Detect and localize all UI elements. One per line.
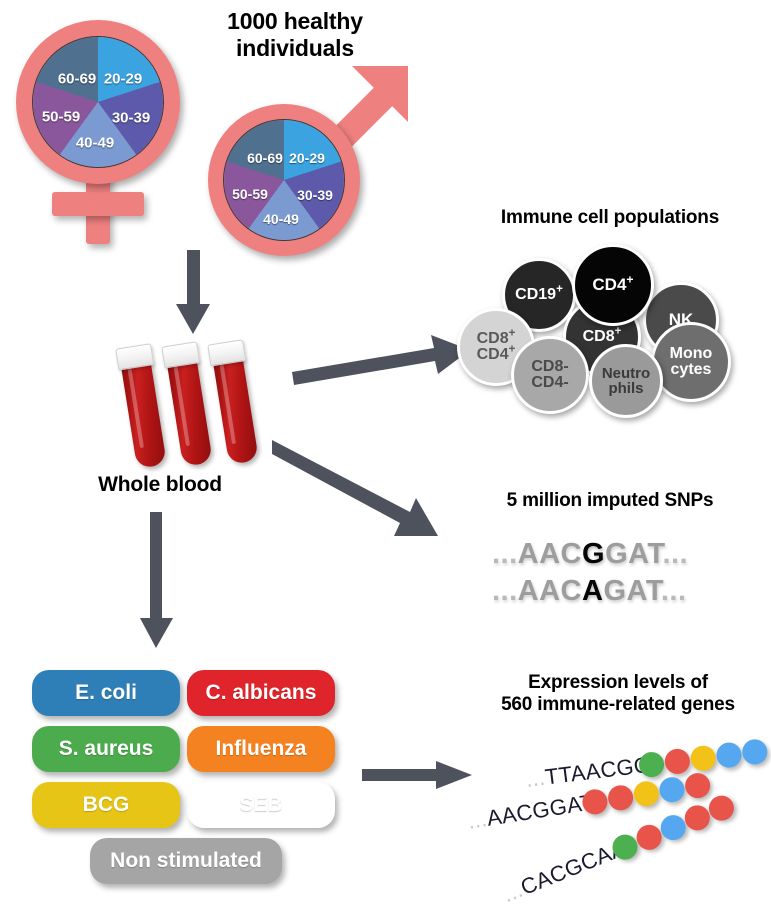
immune-cell-cd4-label: CD4+ — [592, 276, 633, 293]
arrow-stimuli-to-expression — [362, 760, 482, 800]
immune-cell-monocytes: Monocytes — [651, 322, 731, 402]
blood-tube-body — [121, 359, 167, 468]
stimulus-e-coli[interactable]: E. coli — [32, 670, 180, 716]
blood-tube-body — [213, 355, 259, 464]
blood-tube — [208, 339, 261, 467]
snp-suffix: ... — [661, 575, 687, 607]
female-symbol-crossbar — [52, 192, 144, 216]
snp-pre: AAC — [518, 538, 582, 570]
immune-cell-cluster: CD19+ CD4+ NK CD8+CD4+ CD8+ Monocytes CD… — [455, 240, 755, 410]
cohort-title: 1000 healthy individuals — [185, 8, 405, 62]
stimuli-panel: E. coli C. albicans S. aureus Influenza … — [32, 670, 342, 900]
stimulus-influenza[interactable]: Influenza — [187, 726, 335, 772]
expression-title-line1: Expression levels of — [468, 672, 768, 694]
snp-variant-g: G — [582, 538, 605, 570]
female-pie-segments — [33, 37, 163, 167]
stimulus-s-aureus[interactable]: S. aureus — [32, 726, 180, 772]
snp-post: GAT — [603, 575, 660, 607]
whole-blood-tubes — [110, 340, 280, 480]
stimulus-non-stimulated[interactable]: Non stimulated — [90, 838, 282, 884]
stimulus-bcg[interactable]: BCG — [32, 782, 180, 828]
snp-suffix: ... — [662, 538, 688, 570]
arrow-blood-to-immune — [292, 330, 472, 390]
snps-title: 5 million imputed SNPs — [465, 490, 755, 512]
blood-tube — [116, 343, 169, 471]
snp-sequence-line-2: ...AACAGAT... — [492, 575, 687, 608]
male-age-pie: 20-29 30-39 40-49 50-59 60-69 — [223, 119, 345, 241]
gene-strand-group: ...TTAACGG ...AACGGAT ...CACGCAA — [468, 735, 771, 915]
gene-bead — [683, 771, 712, 800]
snp-sequence-line-1: ...AACGGAT... — [492, 538, 688, 571]
cohort-title-line1: 1000 healthy — [185, 8, 405, 35]
female-age-pie: 20-29 30-39 40-49 50-59 60-69 — [32, 36, 164, 168]
immune-cell-cd4: CD4+ — [572, 244, 654, 326]
expression-title: Expression levels of 560 immune-related … — [468, 672, 768, 717]
immune-cell-cd8neg-cd4neg-label: CD8-CD4- — [531, 359, 568, 392]
gene-strand-2-seq: AACGGAT — [485, 789, 596, 831]
snp-prefix: ... — [492, 575, 518, 607]
snp-pre: AAC — [518, 575, 582, 607]
blood-tube — [162, 341, 215, 469]
arrow-blood-to-snps — [272, 440, 452, 550]
arrow-blood-to-stimuli — [128, 512, 188, 662]
immune-cell-cd19-label: CD19+ — [515, 287, 563, 303]
immune-cell-neutrophils: Neutrophils — [589, 344, 663, 418]
immune-cell-cd8neg-cd4neg: CD8-CD4- — [511, 336, 589, 414]
gene-strand-3-text: ...CACGCAA — [499, 835, 629, 908]
expression-title-line2: 560 immune-related genes — [468, 694, 768, 716]
immune-cell-neutrophils-label: Neutrophils — [602, 366, 650, 397]
gene-strand-2-text: ...AACGGAT — [466, 789, 596, 835]
snp-prefix: ... — [492, 538, 518, 570]
immune-cell-cd8-label: CD8+ — [583, 329, 622, 345]
blood-tube-body — [167, 357, 213, 466]
immune-cell-monocytes-label: Monocytes — [670, 346, 713, 379]
stimulus-seb[interactable]: SEB — [187, 782, 335, 828]
figure-canvas: 1000 healthy individuals 20-29 30-39 40-… — [0, 0, 771, 922]
gene-bead — [606, 784, 635, 813]
arrow-cohort-to-blood — [166, 250, 226, 340]
snp-variant-a: A — [582, 575, 603, 607]
male-pie-segments — [224, 120, 344, 240]
male-gender-symbol: 20-29 30-39 40-49 50-59 60-69 — [200, 62, 420, 257]
cohort-title-line2: individuals — [185, 35, 405, 62]
gene-bead — [632, 779, 661, 808]
whole-blood-label: Whole blood — [60, 473, 260, 498]
gene-bead — [658, 775, 687, 804]
immune-title: Immune cell populations — [455, 207, 765, 229]
stimulus-c-albicans[interactable]: C. albicans — [187, 670, 335, 716]
snp-post: GAT — [605, 538, 662, 570]
gene-bead — [741, 738, 769, 766]
immune-cell-cd8pos-cd4pos-label: CD8+CD4+ — [477, 331, 516, 364]
female-gender-symbol: 20-29 30-39 40-49 50-59 60-69 — [8, 12, 198, 252]
